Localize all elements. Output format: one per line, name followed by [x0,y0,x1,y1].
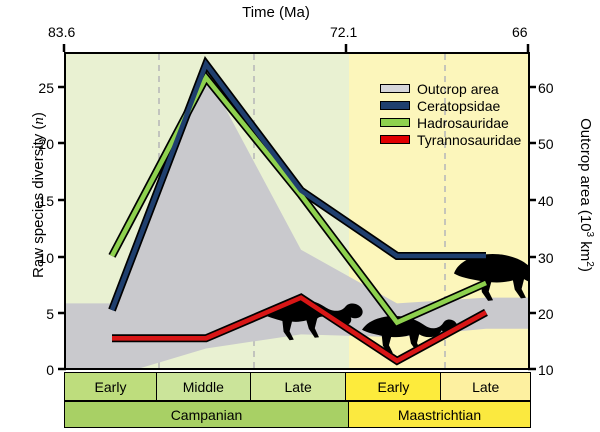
y-left-tick-5: 5 [20,306,54,322]
legend: Outcrop area Ceratopsidae Hadrosauridae … [376,78,525,151]
legend-swatch-outcrop-area [380,84,410,93]
substage-label: Late [472,379,499,395]
legend-swatch-tyrannosauridae [380,135,410,144]
y-left-tick-15: 15 [20,193,54,209]
substage-label: Late [285,379,312,395]
plot-area: Outcrop area Ceratopsidae Hadrosauridae … [64,52,530,370]
y-left-tick-20: 20 [20,136,54,152]
y-right-tick-20: 20 [538,306,578,322]
y-axis-right-title-text: Outcrop area (103 km2) [577,118,594,272]
substage-label: Early [377,379,409,395]
timescale-substage-row: Early Middle Late Early Late [64,372,530,401]
y-right-tick-30: 30 [538,250,578,266]
legend-label-tyrannosauridae: Tyrannosauridae [417,133,521,147]
y-left-tick-10: 10 [20,250,54,266]
substage-early-campanian[interactable]: Early [64,372,157,401]
y-right-tick-50: 50 [538,136,578,152]
stage-label: Maastrichtian [398,407,481,423]
legend-item-ceratopsidae[interactable]: Ceratopsidae [380,97,521,114]
y-right-tick-40: 40 [538,193,578,209]
x-tick-label-72-1: 72.1 [330,24,357,40]
y-left-tick-0: 0 [20,362,54,378]
substage-late-maastrichtian[interactable]: Late [440,372,531,401]
timescale-stage-row: Campanian Maastrichtian [64,401,530,428]
y-axis-right-title: Outcrop area (103 km2) [577,60,595,330]
x-axis-title: Time (Ma) [0,4,600,21]
y-right-tick-60: 60 [538,80,578,96]
legend-item-hadrosauridae[interactable]: Hadrosauridae [380,114,521,131]
x-tick-label-66: 66 [512,24,528,40]
y-left-tick-25: 25 [20,80,54,96]
substage-label: Middle [183,379,224,395]
legend-swatch-ceratopsidae [380,101,410,110]
x-axis-title-text: Time (Ma) [242,4,310,21]
stage-maastrichtian[interactable]: Maastrichtian [348,401,531,428]
legend-label-outcrop-area: Outcrop area [417,82,499,96]
legend-item-outcrop-area[interactable]: Outcrop area [380,80,521,97]
timescale: Early Middle Late Early Late Campanian M… [64,372,530,428]
stage-label: Campanian [171,407,243,423]
y-right-tick-10: 10 [538,362,578,378]
stage-campanian[interactable]: Campanian [64,401,349,428]
substage-late-campanian[interactable]: Late [250,372,347,401]
x-tick-label-83-6: 83.6 [48,24,75,40]
legend-item-tyrannosauridae[interactable]: Tyrannosauridae [380,131,521,148]
substage-middle-campanian[interactable]: Middle [156,372,251,401]
figure-root: Time (Ma) 83.6 72.1 66 Raw species diver… [0,0,600,432]
legend-label-hadrosauridae: Hadrosauridae [417,116,509,130]
substage-early-maastrichtian[interactable]: Early [345,372,441,401]
legend-swatch-hadrosauridae [380,118,410,127]
substage-label: Early [95,379,127,395]
legend-label-ceratopsidae: Ceratopsidae [417,99,500,113]
